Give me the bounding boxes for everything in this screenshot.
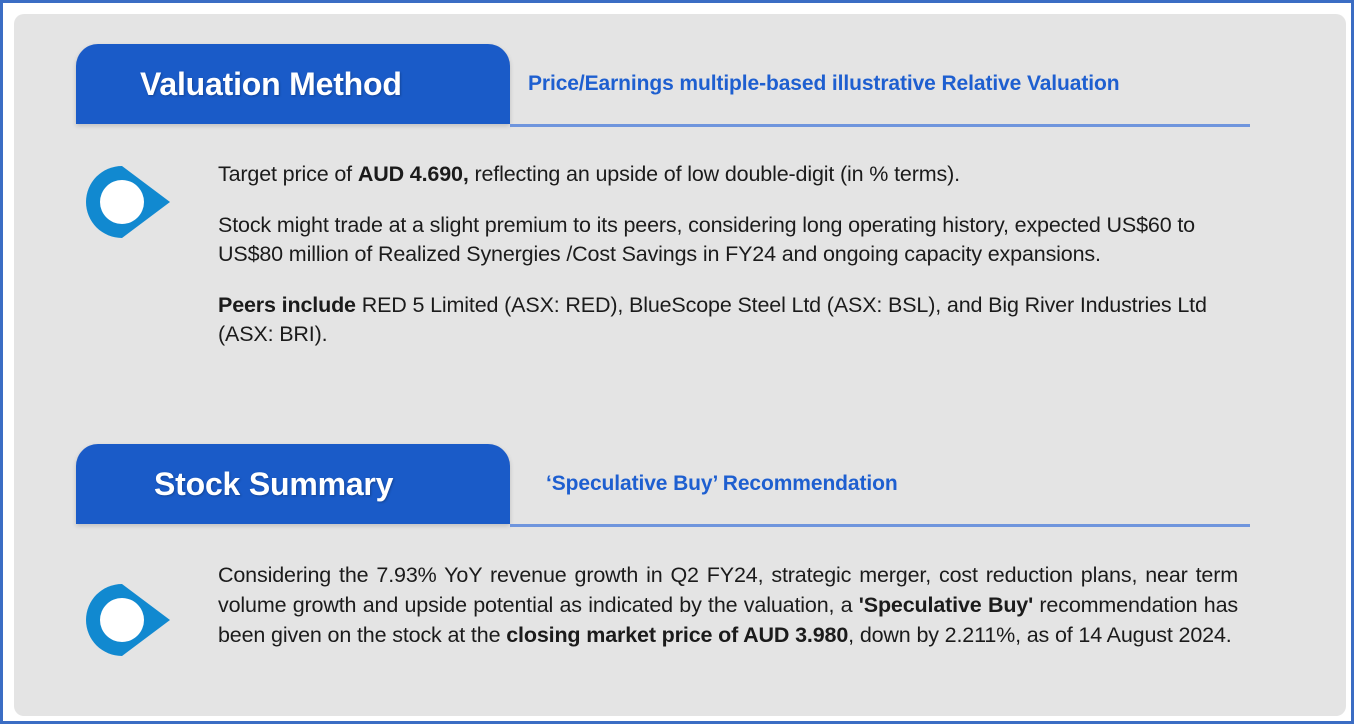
body-run: Stock might trade at a slight premium to… bbox=[218, 213, 1195, 266]
paragraph: Peers include RED 5 Limited (ASX: RED), … bbox=[218, 291, 1238, 349]
valuation-method-subtitle: Price/Earnings multiple-based illustrati… bbox=[528, 44, 1119, 124]
tab-stock-summary[interactable]: Stock Summary bbox=[76, 444, 510, 524]
valuation-method-divider bbox=[510, 124, 1250, 127]
valuation-method-header: Valuation Method Price/Earnings multiple… bbox=[76, 32, 1250, 132]
stock-summary-body: Considering the 7.93% YoY revenue growth… bbox=[76, 532, 1238, 650]
stock-summary-subtitle: ‘Speculative Buy’ Recommendation bbox=[546, 444, 898, 524]
body-run: Target price of bbox=[218, 162, 358, 186]
paragraph: Considering the 7.93% YoY revenue growth… bbox=[218, 560, 1238, 650]
emphasis-text: closing market price of AUD 3.980 bbox=[506, 623, 848, 647]
body-run: reflecting an upside of low double-digit… bbox=[469, 162, 960, 186]
pin-icon bbox=[82, 162, 178, 242]
section-valuation-method: Valuation Method Price/Earnings multiple… bbox=[14, 32, 1346, 349]
content-panel: Valuation Method Price/Earnings multiple… bbox=[14, 14, 1346, 716]
valuation-method-body: Target price of AUD 4.690, reflecting an… bbox=[76, 132, 1238, 349]
body-run: RED 5 Limited (ASX: RED), BlueScope Stee… bbox=[218, 293, 1207, 346]
stock-summary-divider bbox=[510, 524, 1250, 527]
slide-frame: Valuation Method Price/Earnings multiple… bbox=[0, 0, 1354, 724]
pin-icon bbox=[82, 580, 178, 660]
tab-valuation-method-label: Valuation Method bbox=[140, 66, 402, 103]
tab-valuation-method[interactable]: Valuation Method bbox=[76, 44, 510, 124]
stock-summary-header: Stock Summary ‘Speculative Buy’ Recommen… bbox=[76, 432, 1250, 532]
stock-summary-text: Considering the 7.93% YoY revenue growth… bbox=[218, 560, 1238, 650]
emphasis-text: 'Speculative Buy' bbox=[859, 593, 1033, 617]
section-stock-summary: Stock Summary ‘Speculative Buy’ Recommen… bbox=[14, 432, 1346, 650]
tab-stock-summary-label: Stock Summary bbox=[154, 466, 393, 503]
valuation-method-text: Target price of AUD 4.690, reflecting an… bbox=[218, 160, 1238, 349]
body-run: , down by 2.211%, as of 14 August 2024. bbox=[848, 623, 1231, 647]
paragraph: Target price of AUD 4.690, reflecting an… bbox=[218, 160, 1238, 189]
emphasis-text: Peers include bbox=[218, 293, 356, 317]
emphasis-text: AUD 4.690, bbox=[358, 162, 469, 186]
paragraph: Stock might trade at a slight premium to… bbox=[218, 211, 1238, 269]
